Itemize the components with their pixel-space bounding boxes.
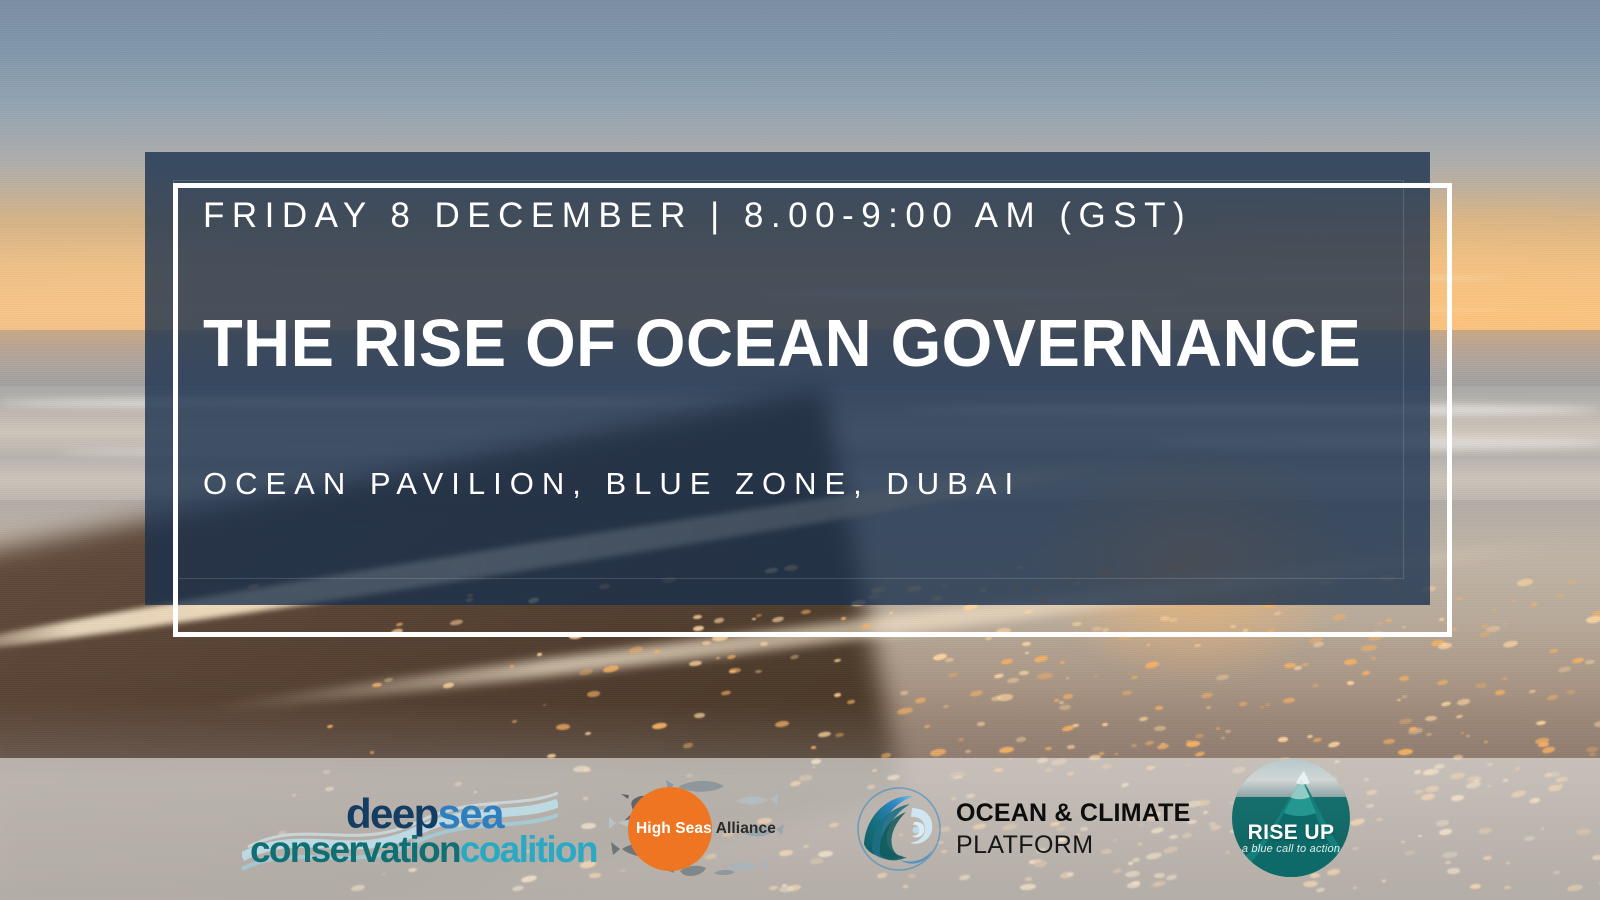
partner-logo-bar: deepsea conservationcoalition (0, 758, 1600, 900)
riseup-tagline: a blue call to action (1232, 843, 1350, 855)
event-poster: FRIDAY 8 DECEMBER | 8.00-9:00 AM (GST) T… (0, 0, 1600, 900)
panel-content: FRIDAY 8 DECEMBER | 8.00-9:00 AM (GST) T… (203, 195, 1383, 503)
riseup-title: RISE UP (1232, 821, 1350, 845)
logo-rise-up[interactable]: RISE UP a blue call to action (1232, 759, 1350, 877)
wave-spiral-emblem-icon (856, 786, 942, 872)
event-venue: OCEAN PAVILION, BLUE ZONE, DUBAI (203, 465, 1383, 502)
logo-high-seas-alliance[interactable]: High Seas Alliance (608, 775, 798, 883)
riseup-badge: RISE UP a blue call to action (1232, 759, 1350, 877)
event-title: THE RISE OF OCEAN GOVERNANCE (203, 309, 1348, 379)
hsa-word-alliance: Alliance (716, 820, 776, 837)
hsa-wordmark: High Seas Alliance (636, 820, 776, 838)
event-datetime: FRIDAY 8 DECEMBER | 8.00-9:00 AM (GST) (203, 195, 1383, 237)
ocp-wordmark: OCEAN & CLIMATE PLATFORM (956, 801, 1190, 858)
dscc-word-coalition: coalition (460, 829, 597, 870)
hsa-word-high-seas: High Seas (636, 820, 712, 837)
logo-ocean-climate-platform[interactable]: OCEAN & CLIMATE PLATFORM (856, 781, 1174, 877)
dscc-wordmark-line2: conservationcoalition (250, 831, 597, 868)
logo-deep-sea-conservation-coalition[interactable]: deepsea conservationcoalition (250, 781, 550, 877)
dscc-word-conservation: conservation (250, 829, 460, 870)
ocp-line2: PLATFORM (956, 833, 1190, 858)
ocp-line1: OCEAN & CLIMATE (956, 801, 1190, 826)
